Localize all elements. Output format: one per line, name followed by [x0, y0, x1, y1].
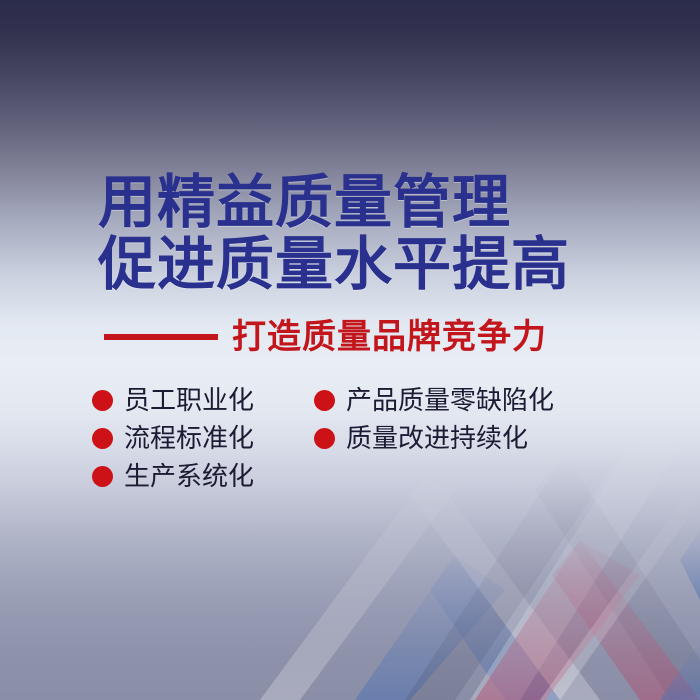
bullet-label: 员工职业化 [124, 385, 254, 415]
poster-canvas: 用精益质量管理 促进质量水平提高 打造质量品牌竞争力 员工职业化 产品质量零缺陷… [0, 0, 700, 700]
bullet-row: 员工职业化 产品质量零缺陷化 [92, 381, 632, 419]
bullet-label: 生产系统化 [124, 461, 254, 491]
bullet-row: 生产系统化 [92, 457, 632, 495]
bullet-item: 流程标准化 [92, 419, 314, 457]
bullet-dot-icon [314, 390, 335, 411]
headline-line-1: 用精益质量管理 [98, 172, 658, 234]
bullet-list: 员工职业化 产品质量零缺陷化 流程标准化 质量改进持续化 生产系统化 [92, 381, 632, 495]
bullet-dot-icon [92, 428, 113, 449]
subtitle-dash-icon [104, 334, 218, 340]
subtitle: 打造质量品牌竞争力 [104, 318, 547, 356]
bullet-label: 流程标准化 [124, 423, 254, 453]
headline: 用精益质量管理 促进质量水平提高 [98, 172, 658, 296]
bullet-label: 质量改进持续化 [346, 423, 528, 453]
headline-line-2: 促进质量水平提高 [98, 234, 658, 296]
bullet-item: 员工职业化 [92, 381, 314, 419]
bullet-label: 产品质量零缺陷化 [346, 385, 554, 415]
subtitle-text: 打造质量品牌竞争力 [232, 318, 547, 356]
bullet-item: 质量改进持续化 [314, 419, 614, 457]
bullet-item: 产品质量零缺陷化 [314, 381, 614, 419]
bullet-dot-icon [92, 466, 113, 487]
bullet-row: 流程标准化 质量改进持续化 [92, 419, 632, 457]
bullet-dot-icon [92, 390, 113, 411]
bullet-dot-icon [314, 428, 335, 449]
bullet-item: 生产系统化 [92, 457, 314, 495]
